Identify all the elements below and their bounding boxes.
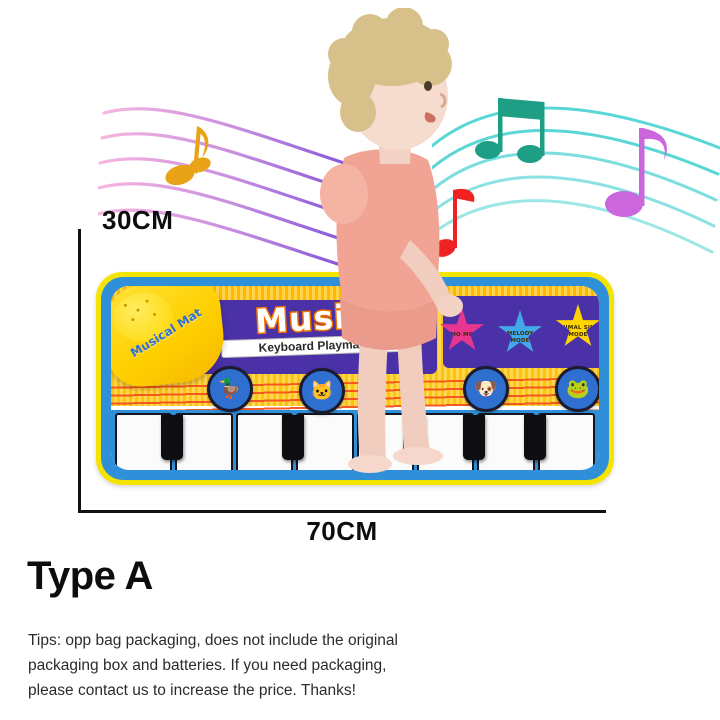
animal-button-frog[interactable]: 🐸	[555, 366, 599, 412]
cat-icon: 🐱	[310, 379, 334, 403]
mat-surface: Music Keyboard Playmat Musical Mat	[111, 286, 599, 470]
tips-line: Tips: opp bag packaging, does not includ…	[28, 628, 498, 653]
music-staff-left	[98, 88, 398, 268]
piano-black-key[interactable]	[403, 415, 425, 460]
dimension-label-width: 70CM	[0, 516, 684, 547]
piano-white-key[interactable]	[477, 413, 534, 470]
dimension-line-vertical	[78, 229, 81, 512]
animal-button-duck[interactable]: 🦆	[207, 366, 253, 412]
animal-button-cat[interactable]: 🐱	[299, 368, 345, 414]
eighth-note-red	[432, 189, 474, 260]
eighth-note-violet	[605, 128, 667, 217]
duck-icon: 🦆	[218, 377, 242, 401]
dimension-label-height: 30CM	[102, 205, 173, 236]
variant-type-label: Type A	[27, 554, 153, 599]
music-keyboard-playmat: Music Keyboard Playmat Musical Mat	[96, 272, 614, 485]
piano-white-key[interactable]	[115, 413, 172, 470]
dimension-line-horizontal	[78, 510, 606, 513]
frog-icon: 🐸	[566, 377, 590, 401]
tips-text: Tips: opp bag packaging, does not includ…	[28, 628, 498, 703]
mat-inner-border: Music Keyboard Playmat Musical Mat	[101, 277, 609, 480]
piano-white-key[interactable]	[236, 413, 293, 470]
piano-white-key[interactable]	[538, 413, 595, 470]
product-wordmark: Music Keyboard Playmat	[221, 302, 401, 355]
beamed-note-teal	[475, 98, 545, 163]
wordmark-music: Music	[220, 297, 401, 339]
animal-button-dog[interactable]: 🐶	[463, 366, 509, 412]
piano-white-key[interactable]	[417, 413, 474, 470]
piano-white-key[interactable]	[175, 413, 232, 470]
piano-white-key[interactable]	[296, 413, 353, 470]
music-staff-right	[432, 78, 720, 268]
tips-line: packaging box and batteries. If you need…	[28, 653, 498, 678]
piano-black-key[interactable]	[161, 415, 183, 460]
piano-keyboard[interactable]	[111, 410, 599, 470]
piano-black-key[interactable]	[282, 415, 304, 460]
piano-white-key[interactable]	[357, 413, 414, 470]
mat-outer-border: Music Keyboard Playmat Musical Mat	[96, 272, 614, 485]
piano-black-key[interactable]	[463, 415, 485, 460]
tips-line: please contact us to increase the price.…	[28, 678, 498, 703]
dog-icon: 🐶	[474, 377, 498, 401]
piano-black-key[interactable]	[524, 415, 546, 460]
eighth-note-gold	[163, 126, 213, 189]
product-image-canvas: 30CM 70CM Music Keyboard Playmat	[0, 0, 720, 720]
